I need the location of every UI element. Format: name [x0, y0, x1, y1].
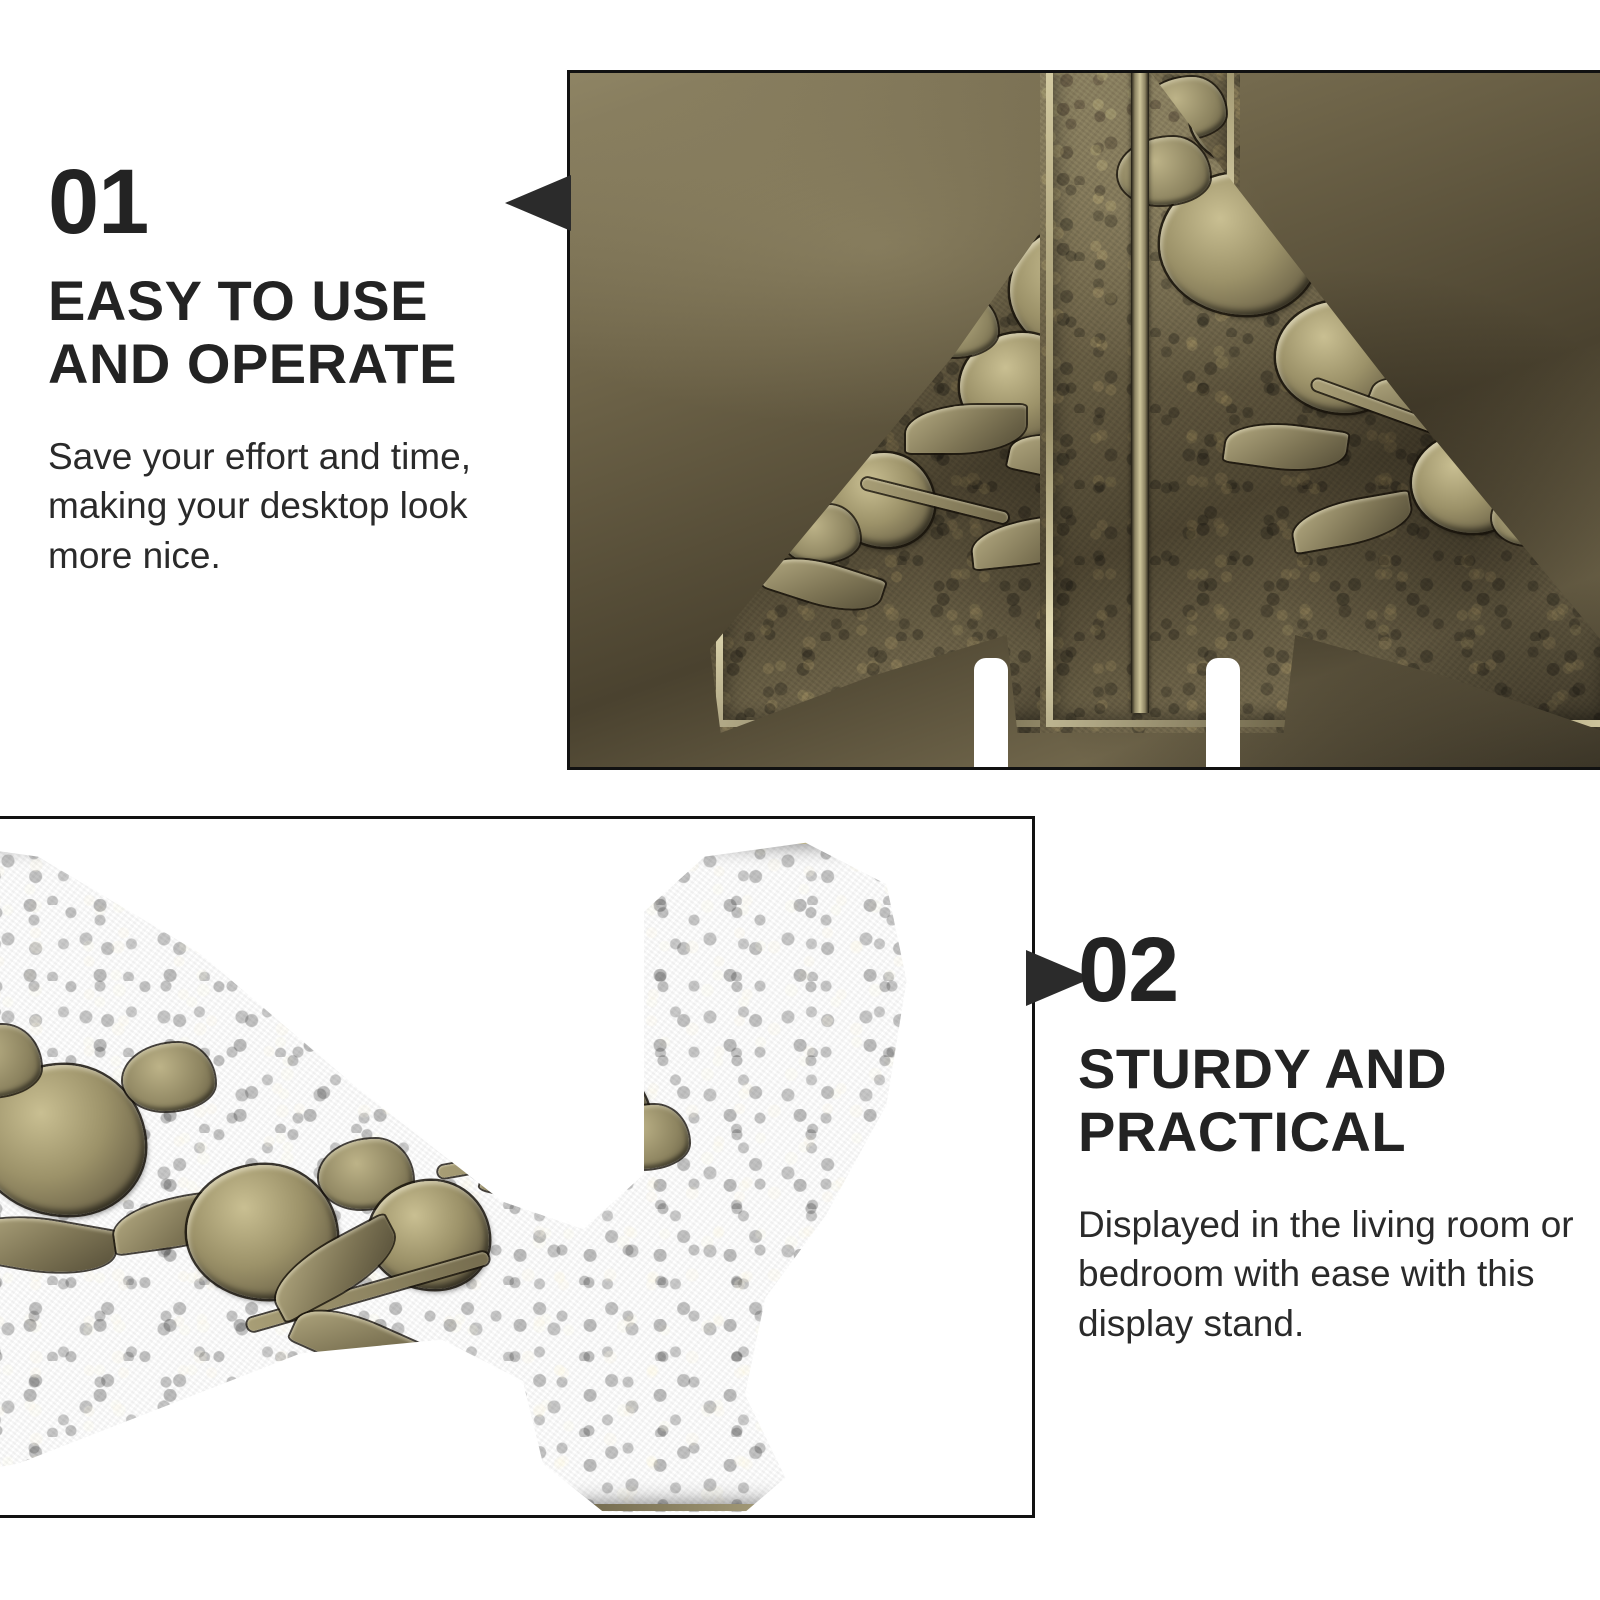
product-photo-panel-top [567, 70, 1600, 770]
feature-body-02: Displayed in the living room or bedroom … [1078, 1200, 1578, 1348]
feature-heading-02-line-1: STURDY AND [1078, 1037, 1578, 1101]
easel-leg-right [1040, 70, 1600, 733]
easel-center-seam [1131, 70, 1149, 713]
feature-number-02: 02 [1078, 928, 1578, 1013]
feature-heading-01: EASY TO USE AND OPERATE [48, 269, 548, 397]
feature-body-01: Save your effort and time, making your d… [48, 432, 548, 580]
product-photo-bottom [0, 819, 1032, 1515]
feature-block-02: 02 STURDY AND PRACTICAL Displayed in the… [1078, 928, 1578, 1348]
feature-block-01: 01 EASY TO USE AND OPERATE Save your eff… [48, 160, 548, 580]
feature-number-01: 01 [48, 160, 548, 245]
feature-heading-02-line-2: PRACTICAL [1078, 1100, 1578, 1164]
product-photo-panel-bottom [0, 816, 1035, 1518]
feature-heading-02: STURDY AND PRACTICAL [1078, 1037, 1578, 1165]
product-photo-top [570, 73, 1600, 767]
easel-foot-arm [0, 829, 947, 1518]
foot-gap-right [1206, 658, 1240, 770]
feature-heading-01-line-1: EASY TO USE [48, 269, 548, 333]
foot-gap-left [974, 658, 1008, 770]
infographic-canvas: 01 EASY TO USE AND OPERATE Save your eff… [0, 0, 1600, 1600]
feature-heading-01-line-2: AND OPERATE [48, 332, 548, 396]
